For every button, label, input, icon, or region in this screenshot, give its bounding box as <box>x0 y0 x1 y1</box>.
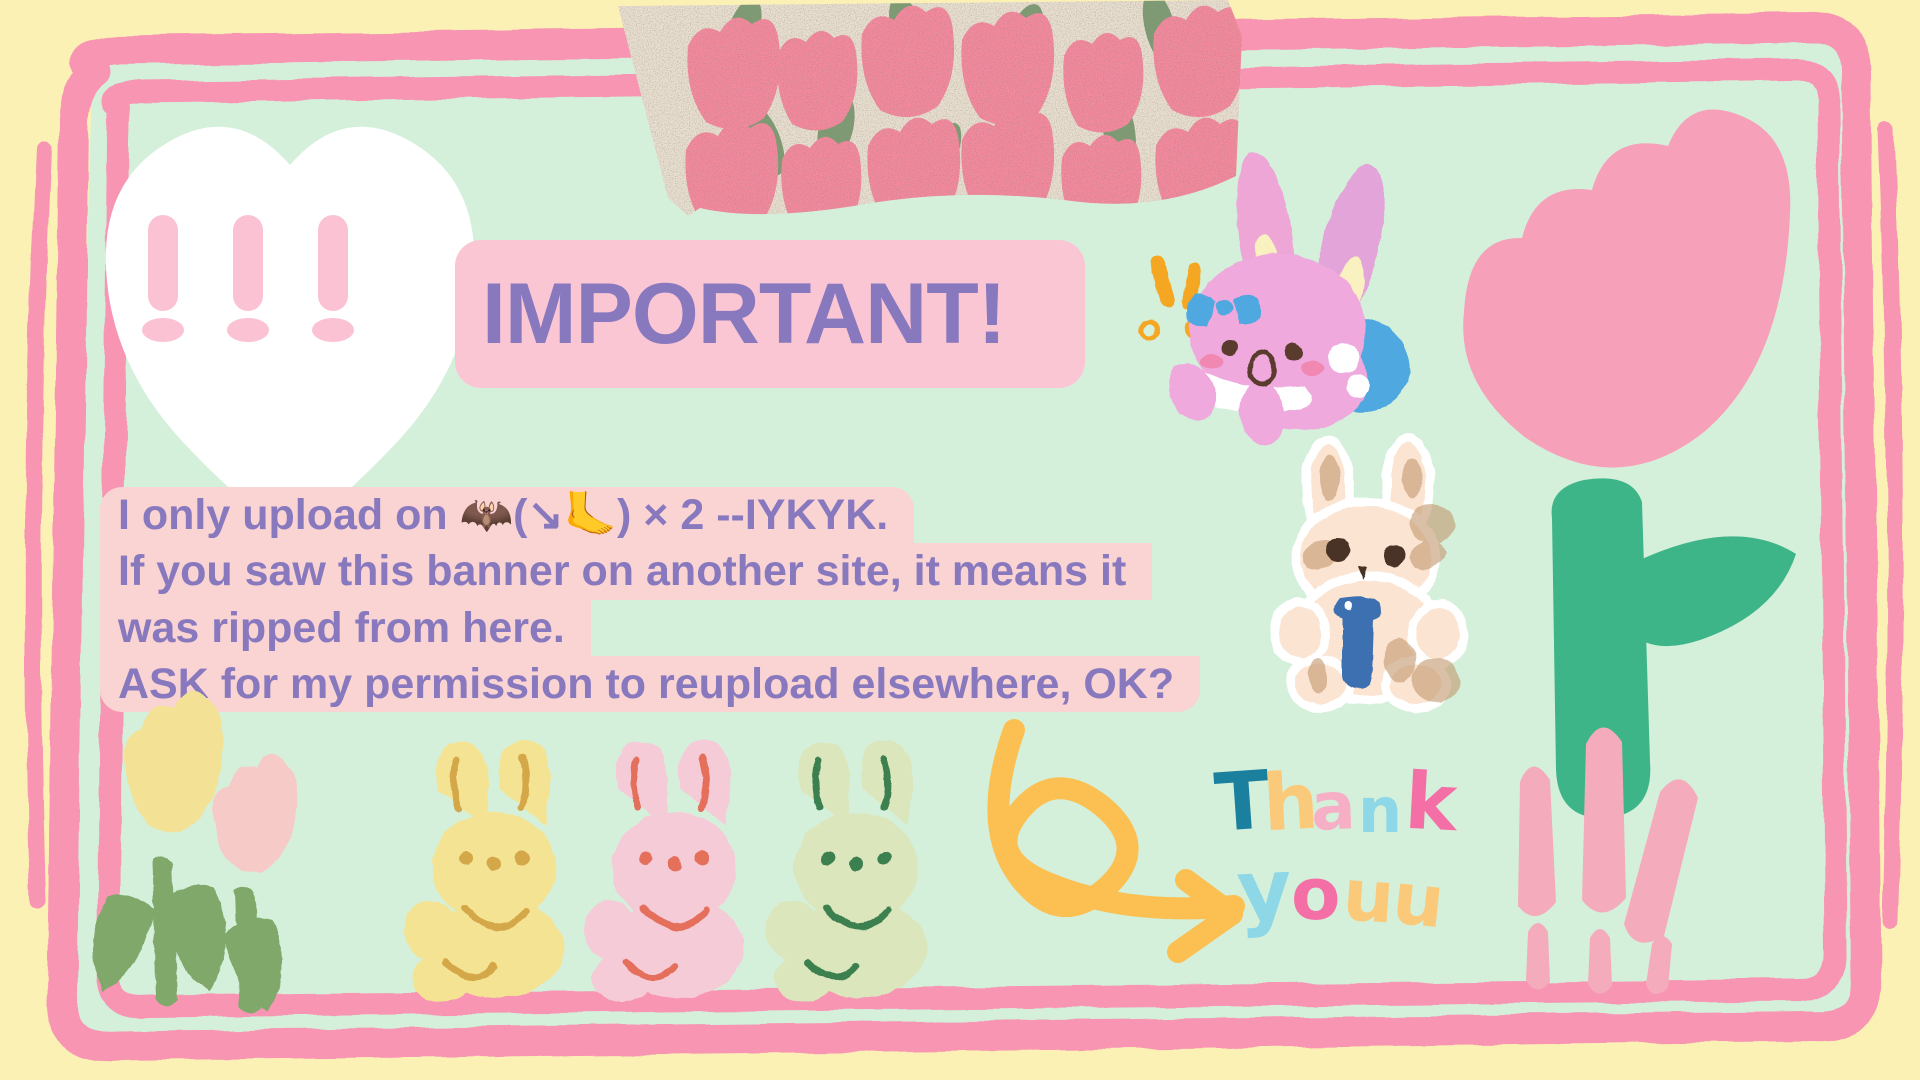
thank-you-letter-k: k <box>1403 763 1459 844</box>
thank-you-letter-y: y <box>1235 847 1294 934</box>
loop-arrow-icon <box>998 730 1234 952</box>
thank-you-letter-u2: u <box>1389 862 1448 939</box>
thank-you-letter-o: o <box>1291 858 1340 930</box>
thank-you-lettering: T h a n k y o u u <box>1215 760 1515 970</box>
loop-arrow-layer <box>0 0 1920 1080</box>
thank-you-letter-u: u <box>1341 858 1397 933</box>
thank-you-letter-a: a <box>1310 773 1357 841</box>
decorative-banner: IMPORTANT! I only upload on 🦇(↘🦶) × 2 --… <box>0 0 1920 1080</box>
thank-you-letter-n: n <box>1358 780 1402 842</box>
